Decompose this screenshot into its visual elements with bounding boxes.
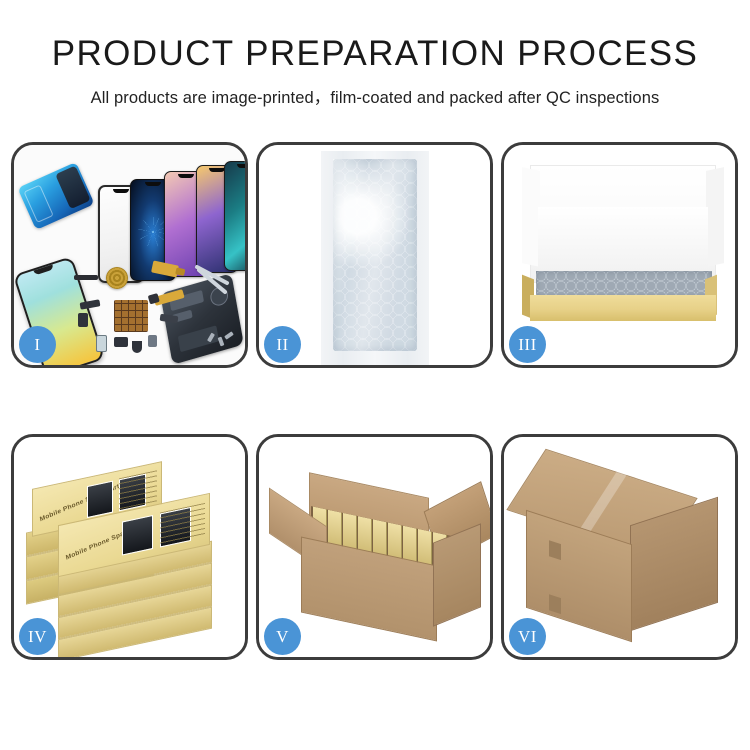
carton-handle-slot [549,594,561,614]
phone-screen-teal-icon [224,161,245,271]
page-title: PRODUCT PREPARATION PROCESS [0,36,750,73]
notch-icon [178,174,194,178]
foam-sheet-graphic [538,207,708,267]
bubble-wrapped-contents-graphic [536,271,712,297]
steps-grid: I II III [11,142,739,686]
earpiece-strip-icon [74,275,98,280]
step-card-1: I [11,142,248,368]
bubble-wrap-gloss [333,159,417,351]
vibration-coil-icon [106,267,128,289]
step-badge-2: II [264,326,301,363]
component-chip-icon [96,335,107,352]
component-chip-icon [114,337,128,347]
screws-icon [207,331,237,357]
step-badge-3: III [509,326,546,363]
product-image [87,481,114,518]
component-chip-icon [160,314,179,323]
step-card-4: Mobile Phone Spare Parts Mobile Phone Sp… [11,434,248,660]
component-chip-icon [78,313,88,327]
phone-screen-fan-graphic [98,161,245,281]
retail-box-spec-lines [160,503,205,546]
product-image [122,515,153,556]
notch-icon [209,168,225,172]
sealed-carton-graphic [526,467,718,637]
step-badge-6: VI [509,618,546,655]
step-badge-1: I [19,326,56,363]
header: PRODUCT PREPARATION PROCESS All products… [0,0,750,108]
carton-handle-slot [549,540,561,560]
component-chip-icon [132,341,142,353]
step-card-2: II [256,142,493,368]
notch-icon [145,182,161,186]
inner-box-front-panel [530,295,716,321]
step-card-3: III [501,142,738,368]
screw [207,333,215,343]
open-carton-graphic [287,481,467,631]
step-badge-4: IV [19,618,56,655]
mesh-shield-icon [114,300,148,332]
page-subtitle: All products are image-printed，film-coat… [0,84,750,108]
component-chip-icon [148,335,157,347]
screw [224,331,234,339]
step-badge-5: V [264,618,301,655]
product-preparation-infographic: PRODUCT PREPARATION PROCESS All products… [0,0,750,750]
tweezers-icon [193,273,233,303]
carton-side-panel [433,523,481,626]
notch-icon [113,189,129,193]
retail-box-spec-lines [119,471,157,510]
step-card-6: VI [501,434,738,660]
retail-box-stack-graphic: Mobile Phone Spare Parts Mobile Phone Sp… [22,461,236,645]
notch-icon [237,164,245,168]
screw [218,337,225,347]
step-card-5: V [256,434,493,660]
lcd-assembly-graphic [17,162,94,230]
